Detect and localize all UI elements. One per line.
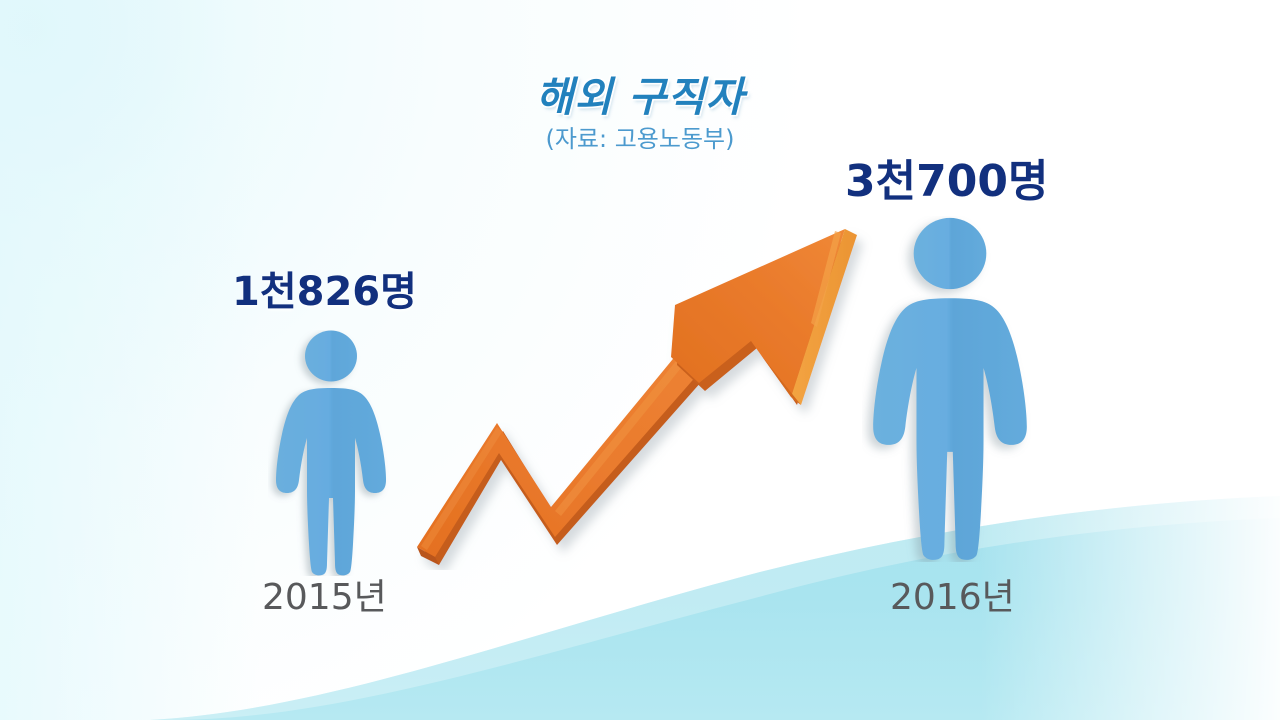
value-label-2015: 1천826명	[232, 272, 417, 312]
year-label-2015: 2015년	[262, 580, 387, 616]
infographic-screen: 국민방송 해외 구직자 (자료: 고용노동부) 1천826명	[0, 0, 1280, 720]
growth-arrow	[405, 215, 875, 570]
ktv-watermark-logo: 국민방송	[1084, 44, 1244, 116]
person-icon-2015	[268, 330, 394, 576]
value-label-2016: 3천700명	[845, 160, 1048, 204]
year-label-2016: 2016년	[890, 580, 1015, 616]
person-icon-2016	[862, 216, 1038, 562]
